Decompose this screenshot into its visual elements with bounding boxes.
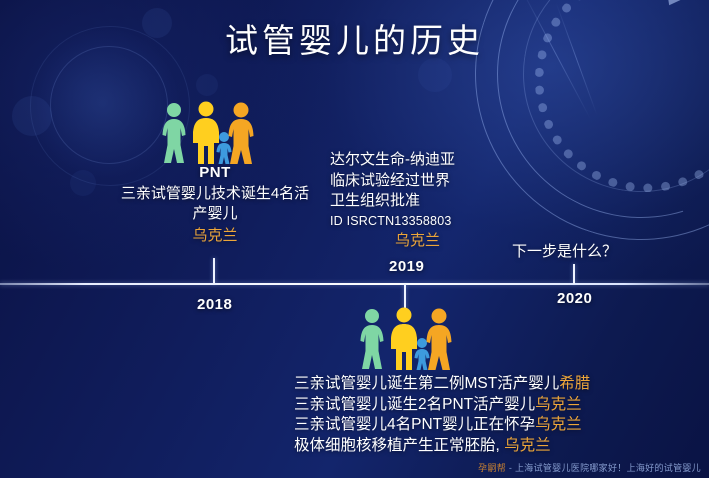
- result-row-3: 三亲试管婴儿4名PNT婴儿正在怀孕乌克兰: [294, 415, 624, 436]
- watermark-brand: 孕嗣帮: [478, 463, 506, 473]
- darwin-line3: 卫生组织批准: [330, 191, 505, 212]
- family-group-icon-top: [158, 101, 264, 165]
- man-yellow-icon: [193, 102, 219, 165]
- presentation-slide: 试管婴儿的历史 2018 2019 2020: [0, 0, 709, 478]
- timeline-year-2018: 2018: [197, 296, 232, 313]
- family-group-svg-top: [158, 101, 264, 165]
- timeline-tick-2018: [213, 258, 215, 284]
- result-row-1: 三亲试管婴儿诞生第二例MST活产婴儿希腊: [294, 374, 624, 395]
- darwin-line2: 临床试验经过世界: [330, 171, 505, 192]
- background-bokeh-5: [418, 58, 452, 92]
- background-bokeh-4: [70, 170, 96, 196]
- result-text-3: 三亲试管婴儿4名PNT婴儿正在怀孕: [294, 416, 535, 433]
- result-text-1: 三亲试管婴儿诞生第二例MST活产婴儿: [294, 375, 559, 392]
- pnt-description-line1: 三亲试管婴儿技术诞生4名活: [104, 184, 326, 205]
- pnt-label: PNT: [104, 163, 326, 184]
- woman-orange-icon: [229, 103, 254, 165]
- result-row-2: 三亲试管婴儿诞生2名PNT活产婴儿乌克兰: [294, 395, 624, 416]
- pnt-country: 乌克兰: [104, 226, 326, 247]
- family-group-icon-bottom: [356, 307, 462, 371]
- woman-green-icon: [361, 309, 384, 369]
- woman-orange-icon: [427, 309, 452, 371]
- timeline-axis: [0, 283, 709, 285]
- watermark-separator: -: [506, 463, 515, 473]
- watermark: 孕嗣帮 - 上海试管婴儿医院哪家好！上海好的试管婴儿: [478, 461, 701, 474]
- event-block-darwin-life: 达尔文生命-纳迪亚 临床试验经过世界 卫生组织批准 ID ISRCTN13358…: [330, 150, 505, 252]
- woman-green-icon: [163, 103, 186, 163]
- result-country-3: 乌克兰: [535, 416, 582, 433]
- timeline-year-2019: 2019: [389, 258, 424, 275]
- result-text-2: 三亲试管婴儿诞生2名PNT活产婴儿: [294, 396, 535, 413]
- background-ring-left: [50, 46, 168, 164]
- background-bokeh-1: [12, 96, 52, 136]
- darwin-line1: 达尔文生命-纳迪亚: [330, 150, 505, 171]
- result-country-1: 希腊: [559, 375, 590, 392]
- man-yellow-icon: [391, 308, 417, 371]
- watermark-text: 上海试管婴儿医院哪家好！上海好的试管婴儿: [515, 463, 701, 473]
- result-country-4: 乌克兰: [504, 437, 551, 454]
- darwin-country: 乌克兰: [330, 231, 505, 252]
- results-list: 三亲试管婴儿诞生第二例MST活产婴儿希腊 三亲试管婴儿诞生2名PNT活产婴儿乌克…: [294, 374, 624, 456]
- background-bokeh-3: [196, 74, 218, 96]
- family-group-svg-bottom: [356, 307, 462, 371]
- darwin-trial-id: ID ISRCTN13358803: [330, 213, 505, 230]
- timeline-tick-2020: [573, 264, 575, 284]
- result-text-4: 极体细胞核移植产生正常胚胎,: [294, 437, 504, 454]
- event-block-pnt: PNT 三亲试管婴儿技术诞生4名活 产婴儿 乌克兰: [104, 163, 326, 247]
- next-step-question: 下一步是什么？: [512, 242, 617, 263]
- result-row-4: 极体细胞核移植产生正常胚胎, 乌克兰: [294, 436, 624, 457]
- result-country-2: 乌克兰: [535, 396, 582, 413]
- timeline-year-2020: 2020: [557, 290, 592, 307]
- slide-title: 试管婴儿的历史: [0, 14, 709, 62]
- pnt-description-line2: 产婴儿: [104, 204, 326, 225]
